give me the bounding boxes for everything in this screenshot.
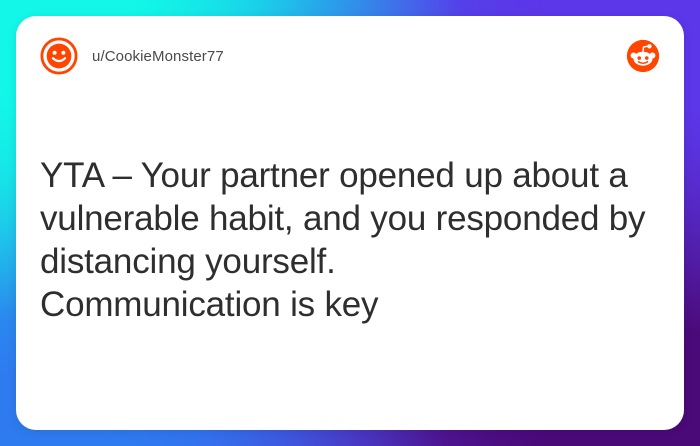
screenshot-root: u/CookieMonster77 YTA – Your partner ope… [0, 0, 700, 446]
avatar-smiley-icon[interactable] [40, 37, 78, 75]
username-label[interactable]: u/CookieMonster77 [92, 48, 224, 65]
post-body-text: YTA – Your partner opened up about a vul… [40, 154, 660, 326]
post-header: u/CookieMonster77 [16, 16, 684, 96]
reddit-post-card: u/CookieMonster77 YTA – Your partner ope… [16, 16, 684, 430]
reddit-snoo-icon[interactable] [626, 39, 660, 73]
